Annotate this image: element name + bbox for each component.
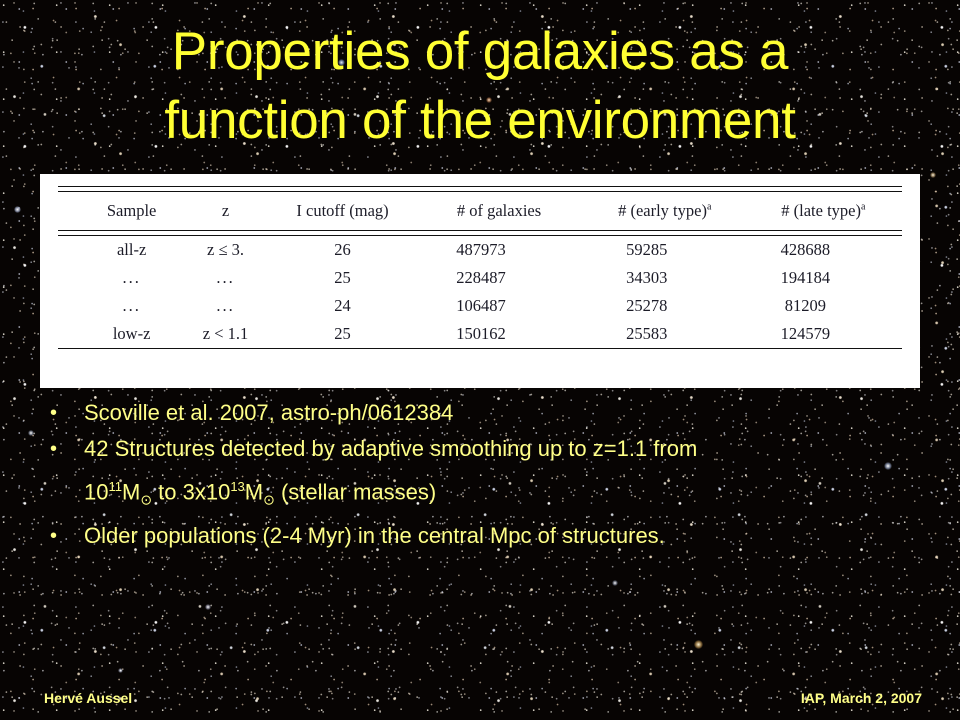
bullet-list: • Scoville et al. 2007, astro-ph/0612384…	[46, 398, 926, 557]
cell-cutoff: 25	[272, 264, 413, 292]
bright-star	[930, 172, 936, 178]
column-header-z: z	[179, 192, 272, 231]
cell-sample: low-z	[58, 320, 179, 349]
mass-exponent-two: 13	[230, 479, 244, 494]
bullet-text-reference: Scoville et al. 2007, astro-ph/0612384	[84, 398, 926, 428]
bright-star	[28, 430, 34, 436]
table-row: low-z z < 1.1 25 150162 25583 124579	[58, 320, 902, 349]
mass-base-one: 10	[84, 479, 108, 504]
cell-early-type: 59285	[585, 236, 745, 265]
cell-z: ...	[179, 292, 272, 320]
column-header-sample: Sample	[58, 192, 179, 231]
cell-early-type: 34303	[585, 264, 745, 292]
cell-late-type: 81209	[745, 292, 902, 320]
bright-star	[612, 580, 618, 586]
table-row: ... ... 25 228487 34303 194184	[58, 264, 902, 292]
cell-cutoff: 24	[272, 292, 413, 320]
bright-star	[118, 668, 123, 673]
cell-galaxies: 487973	[413, 236, 585, 265]
galaxy-sample-table: Sample z I cutoff (mag) # of galaxies # …	[58, 186, 902, 377]
table-header-row: Sample z I cutoff (mag) # of galaxies # …	[58, 192, 902, 231]
cell-galaxies: 228487	[413, 264, 585, 292]
cell-sample: ...	[58, 264, 179, 292]
bullet-text-populations: Older populations (2-4 Myr) in the centr…	[84, 521, 926, 551]
bright-star	[14, 206, 21, 213]
table-body: all-z z ≤ 3. 26 487973 59285 428688 ... …	[58, 236, 902, 378]
column-header-late-type: # (late type)a	[745, 192, 902, 231]
list-item: • 42 Structures detected by adaptive smo…	[46, 434, 926, 515]
table-row: all-z z ≤ 3. 26 487973 59285 428688	[58, 236, 902, 265]
solar-mass-icon: ⊙	[263, 492, 275, 508]
cell-early-type: 25278	[585, 292, 745, 320]
footer-author: Hervé Aussel	[44, 690, 132, 706]
cell-sample: ...	[58, 292, 179, 320]
mass-exponent-one: 11	[108, 479, 122, 494]
slide-title: Properties of galaxies as a function of …	[0, 18, 960, 156]
cell-early-type: 25583	[585, 320, 745, 349]
early-type-label: # (early type)	[618, 201, 707, 220]
cell-z: z ≤ 3.	[179, 236, 272, 265]
cell-late-type: 124579	[745, 320, 902, 349]
presentation-slide: Properties of galaxies as a function of …	[0, 0, 960, 720]
bullet-point-icon: •	[46, 521, 84, 551]
cell-galaxies: 106487	[413, 292, 585, 320]
list-item: • Older populations (2-4 Myr) in the cen…	[46, 521, 926, 551]
mass-symbol-two: M	[245, 479, 263, 504]
column-header-early-type: # (early type)a	[585, 192, 745, 231]
mass-symbol-one: M	[122, 479, 140, 504]
cell-late-type: 194184	[745, 264, 902, 292]
table-panel: Sample z I cutoff (mag) # of galaxies # …	[40, 174, 920, 388]
solar-mass-icon: ⊙	[140, 492, 152, 508]
table-header: Sample z I cutoff (mag) # of galaxies # …	[58, 187, 902, 236]
list-item: • Scoville et al. 2007, astro-ph/0612384	[46, 398, 926, 428]
bullet-point-icon: •	[46, 398, 84, 428]
footnote-marker: a	[707, 202, 711, 213]
column-header-cutoff: I cutoff (mag)	[272, 192, 413, 231]
mass-note: (stellar masses)	[275, 479, 436, 504]
bullet-text-structures: 42 Structures detected by adaptive smoot…	[84, 434, 926, 515]
structures-mass-range: 1011M⊙ to 3x1013M⊙ (stellar masses)	[84, 472, 926, 515]
column-header-galaxies: # of galaxies	[413, 192, 585, 231]
cell-galaxies: 150162	[413, 320, 585, 349]
table-rule-bottom	[58, 349, 902, 378]
late-type-label: # (late type)	[781, 201, 861, 220]
table-row: ... ... 24 106487 25278 81209	[58, 292, 902, 320]
horizontal-rule	[58, 349, 902, 378]
bright-star	[205, 604, 211, 610]
bullet-point-icon: •	[46, 434, 84, 464]
structures-line-one: 42 Structures detected by adaptive smoot…	[84, 436, 697, 461]
cell-z: ...	[179, 264, 272, 292]
footnote-marker: a	[861, 202, 865, 213]
cell-cutoff: 25	[272, 320, 413, 349]
bright-star	[694, 640, 703, 649]
cell-cutoff: 26	[272, 236, 413, 265]
cell-sample: all-z	[58, 236, 179, 265]
cell-late-type: 428688	[745, 236, 902, 265]
cell-z: z < 1.1	[179, 320, 272, 349]
footer-venue-date: IAP, March 2, 2007	[801, 690, 922, 706]
mass-range-connector: to 3x10	[152, 479, 230, 504]
